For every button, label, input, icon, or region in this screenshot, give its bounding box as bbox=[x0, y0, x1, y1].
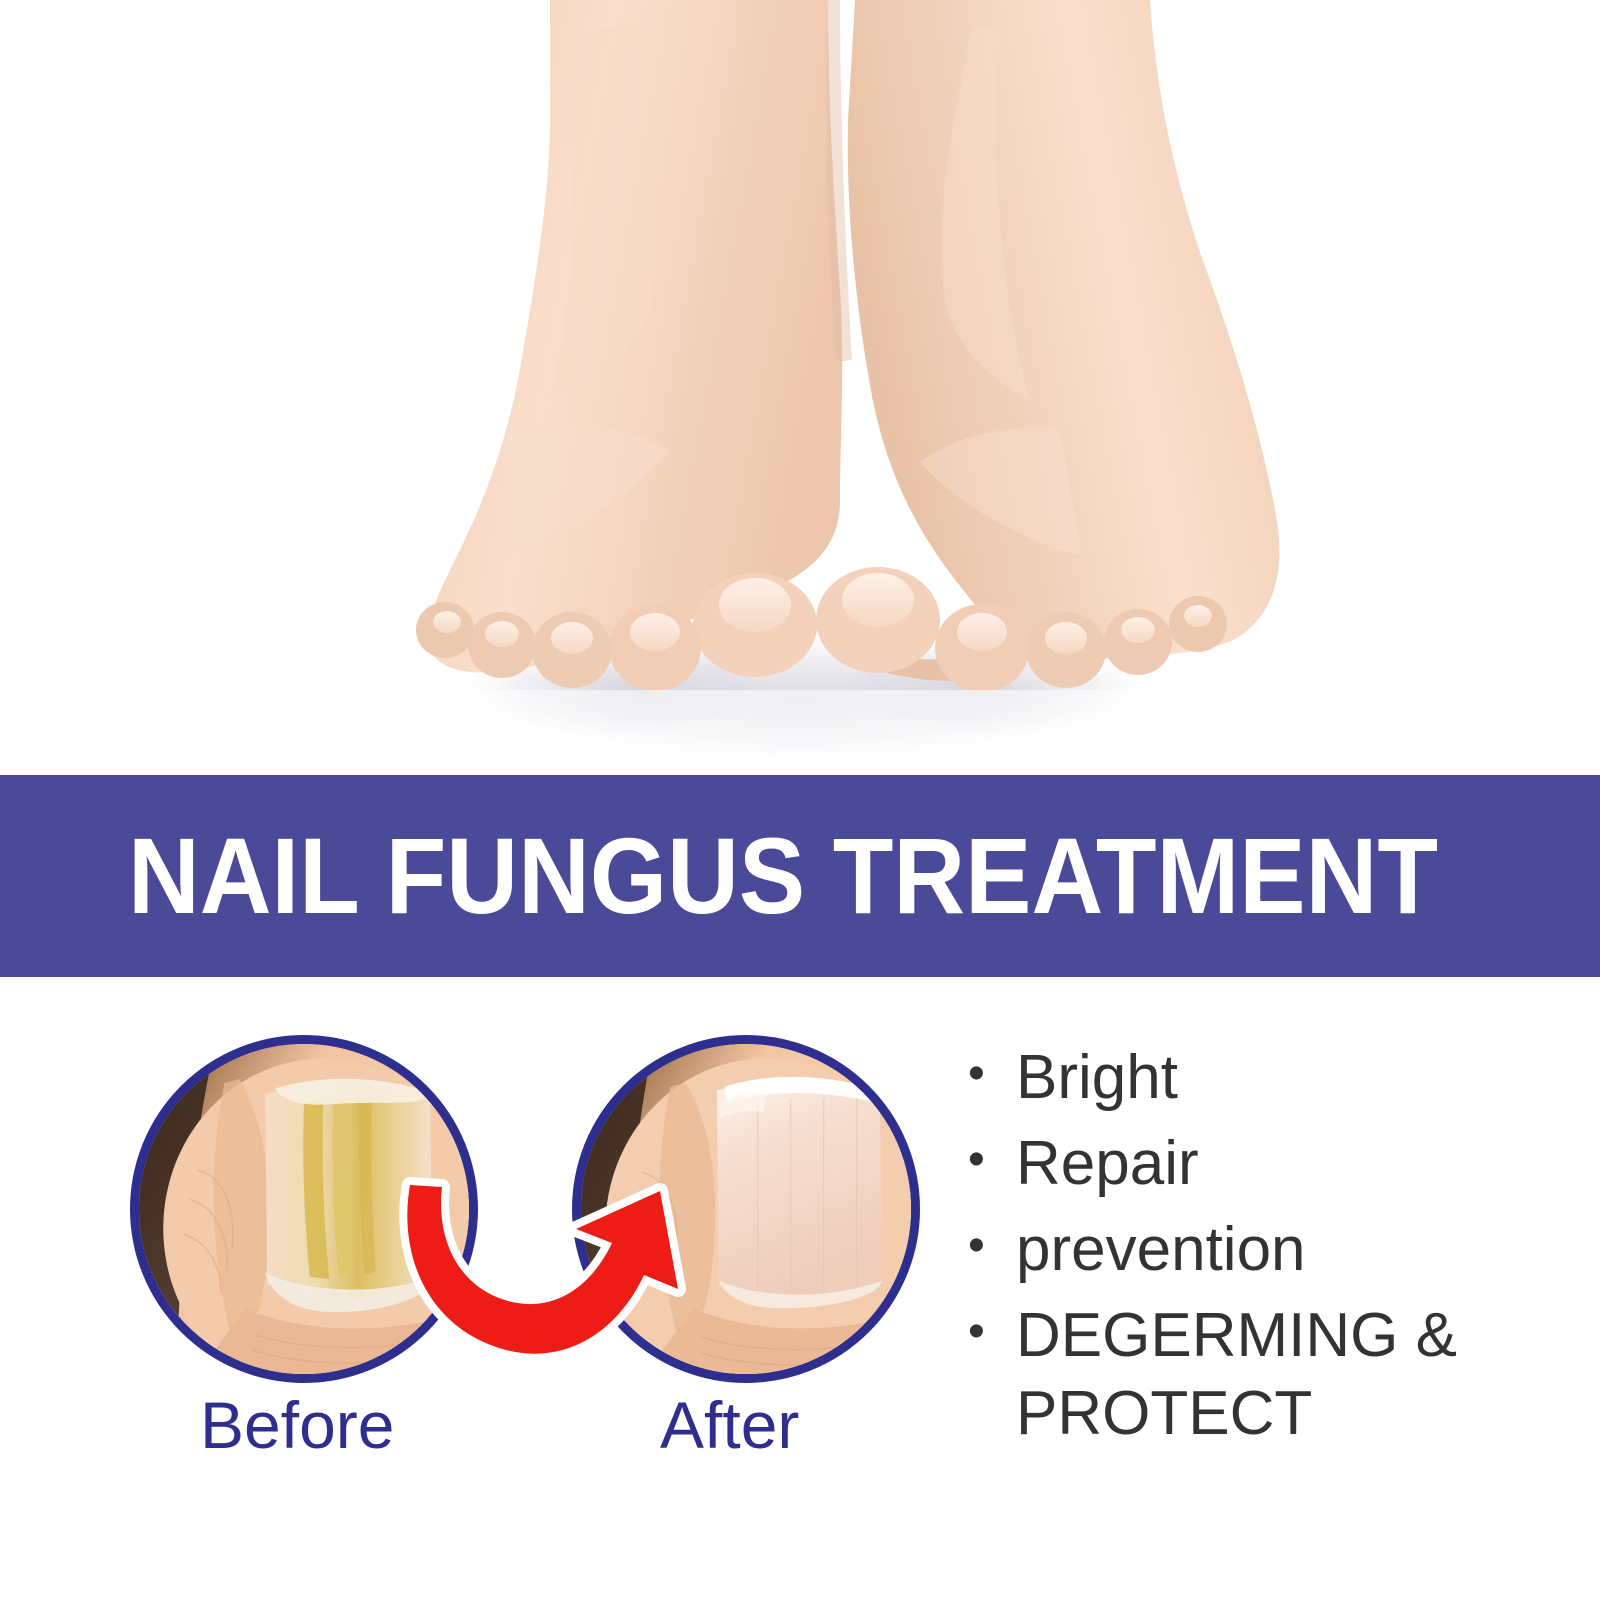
benefit-label: prevention bbox=[1016, 1211, 1526, 1289]
list-item: • Repair bbox=[968, 1125, 1568, 1203]
product-infographic: NAIL FUNGUS TREATMENT bbox=[0, 0, 1600, 1600]
after-label: After bbox=[660, 1392, 799, 1458]
fungal-nail-illustration bbox=[139, 1044, 469, 1374]
list-item: • DEGERMING & PROTECT bbox=[968, 1297, 1568, 1453]
list-item: • prevention bbox=[968, 1211, 1568, 1289]
bare-feet-photo bbox=[300, 0, 1300, 775]
bullet-icon: • bbox=[968, 1297, 1016, 1367]
benefits-list: • Bright • Repair • prevention • DEGERMI… bbox=[968, 1039, 1568, 1462]
benefit-label: Bright bbox=[1016, 1039, 1526, 1117]
benefit-label: DEGERMING & PROTECT bbox=[1016, 1297, 1526, 1453]
before-label: Before bbox=[200, 1392, 394, 1458]
healthy-nail-illustration bbox=[581, 1044, 911, 1374]
benefit-label: Repair bbox=[1016, 1125, 1526, 1203]
page-title: NAIL FUNGUS TREATMENT bbox=[128, 822, 1438, 930]
right-big-toenail bbox=[842, 573, 914, 627]
title-banner: NAIL FUNGUS TREATMENT bbox=[0, 775, 1600, 977]
before-image-circle bbox=[130, 1035, 478, 1383]
list-item: • Bright bbox=[968, 1039, 1568, 1117]
lower-section: Before After • Bright • Repair • prevent… bbox=[0, 977, 1600, 1600]
after-image-circle bbox=[572, 1035, 920, 1383]
bullet-icon: • bbox=[968, 1125, 1016, 1195]
bullet-icon: • bbox=[968, 1211, 1016, 1281]
hero-photo-section bbox=[0, 0, 1600, 775]
bullet-icon: • bbox=[968, 1039, 1016, 1109]
feet-illustration bbox=[300, 0, 1300, 775]
